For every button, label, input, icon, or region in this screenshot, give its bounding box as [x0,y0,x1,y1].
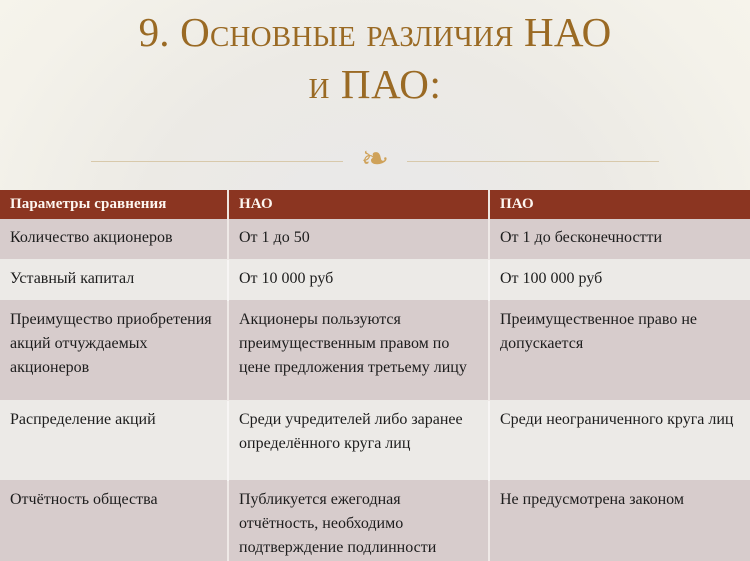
cell-pao: Преимущественное право не допускается [489,300,750,400]
divider-rule-left [91,161,343,162]
cell-parameter: Отчётность общества [0,480,228,561]
cell-parameter: Уставный капитал [0,259,228,300]
page-title-line-1: 9. Основные различия НАО [50,6,700,58]
title-area: 9. Основные различия НАО и ПАО: ❧ [0,0,750,190]
presentation-slide: 9. Основные различия НАО и ПАО: ❧ Параме… [0,0,750,561]
flourish-ornament-icon: ❧ [345,142,405,176]
cell-nao: Публикуется ежегодная отчётность, необхо… [228,480,489,561]
table-row: Преимущество приобретения акций отчуждае… [0,300,750,400]
table-row: Количество акционеров От 1 до 50 От 1 до… [0,219,750,259]
table-header: Параметры сравнения НАО ПАО [0,190,750,219]
cell-nao: От 1 до 50 [228,219,489,259]
cell-pao: Среди неограниченного круга лиц [489,400,750,480]
cell-nao: Акционеры пользуются преимущественным пр… [228,300,489,400]
cell-parameter: Количество акционеров [0,219,228,259]
column-header-parameter: Параметры сравнения [0,190,228,219]
table-body: Количество акционеров От 1 до 50 От 1 до… [0,219,750,561]
table-header-row: Параметры сравнения НАО ПАО [0,190,750,219]
cell-pao: Не предусмотрена законом [489,480,750,561]
cell-nao: От 10 000 руб [228,259,489,300]
cell-parameter: Преимущество приобретения акций отчуждае… [0,300,228,400]
ornamental-divider: ❧ [0,141,750,181]
cell-pao: От 1 до бесконечностти [489,219,750,259]
page-title: 9. Основные различия НАО и ПАО: [50,6,700,110]
page-title-line-2: и ПАО: [50,58,700,110]
column-header-pao: ПАО [489,190,750,219]
divider-rule-right [407,161,659,162]
column-header-nao: НАО [228,190,489,219]
table-row: Уставный капитал От 10 000 руб От 100 00… [0,259,750,300]
table-row: Отчётность общества Публикуется ежегодна… [0,480,750,561]
cell-parameter: Распределение акций [0,400,228,480]
cell-nao: Среди учредителей либо заранее определён… [228,400,489,480]
table-row: Распределение акций Среди учредителей ли… [0,400,750,480]
cell-pao: От 100 000 руб [489,259,750,300]
comparison-table: Параметры сравнения НАО ПАО Количество а… [0,190,750,561]
